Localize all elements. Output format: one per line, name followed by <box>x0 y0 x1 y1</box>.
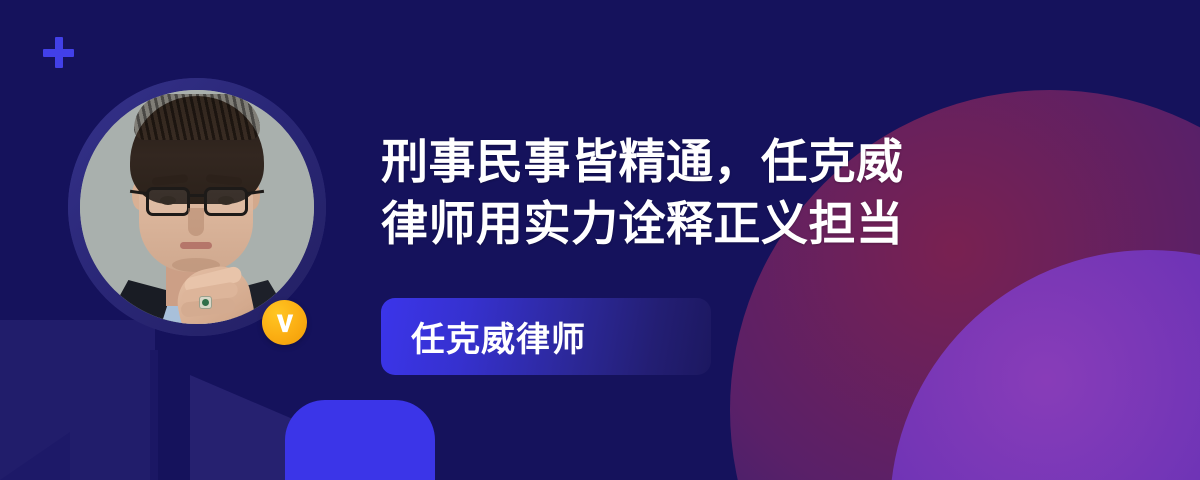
lawyer-promo-banner: 刑事民事皆精通，任克威 律师用实力诠释正义担当 任克威律师 <box>0 0 1200 480</box>
nose <box>188 208 204 236</box>
avatar <box>80 90 314 324</box>
avatar-photo <box>80 90 314 324</box>
lawyer-name-chip[interactable]: 任克威律师 <box>381 298 711 375</box>
glasses-lens-left <box>146 187 190 216</box>
glasses-lens-right <box>204 187 248 216</box>
verified-badge-icon <box>262 300 307 345</box>
bottom-triangle-decoration <box>190 375 435 480</box>
plus-icon-vertical-bar <box>55 37 63 68</box>
left-block-decoration <box>0 320 155 480</box>
mouth <box>180 242 212 249</box>
vertical-strip-decoration <box>150 350 158 480</box>
blue-rounded-square-decoration <box>285 400 435 480</box>
page-title: 刑事民事皆精通，任克威 律师用实力诠释正义担当 <box>381 131 1081 255</box>
lawyer-name-label: 任克威律师 <box>381 312 586 361</box>
hair-texture <box>134 94 260 140</box>
glasses-bridge <box>190 194 204 197</box>
ring-gem <box>202 299 209 306</box>
plus-icon <box>43 37 74 68</box>
small-triangle-decoration <box>0 432 70 480</box>
verified-check-glyph <box>272 310 298 336</box>
violet-disc-decoration <box>890 250 1200 480</box>
